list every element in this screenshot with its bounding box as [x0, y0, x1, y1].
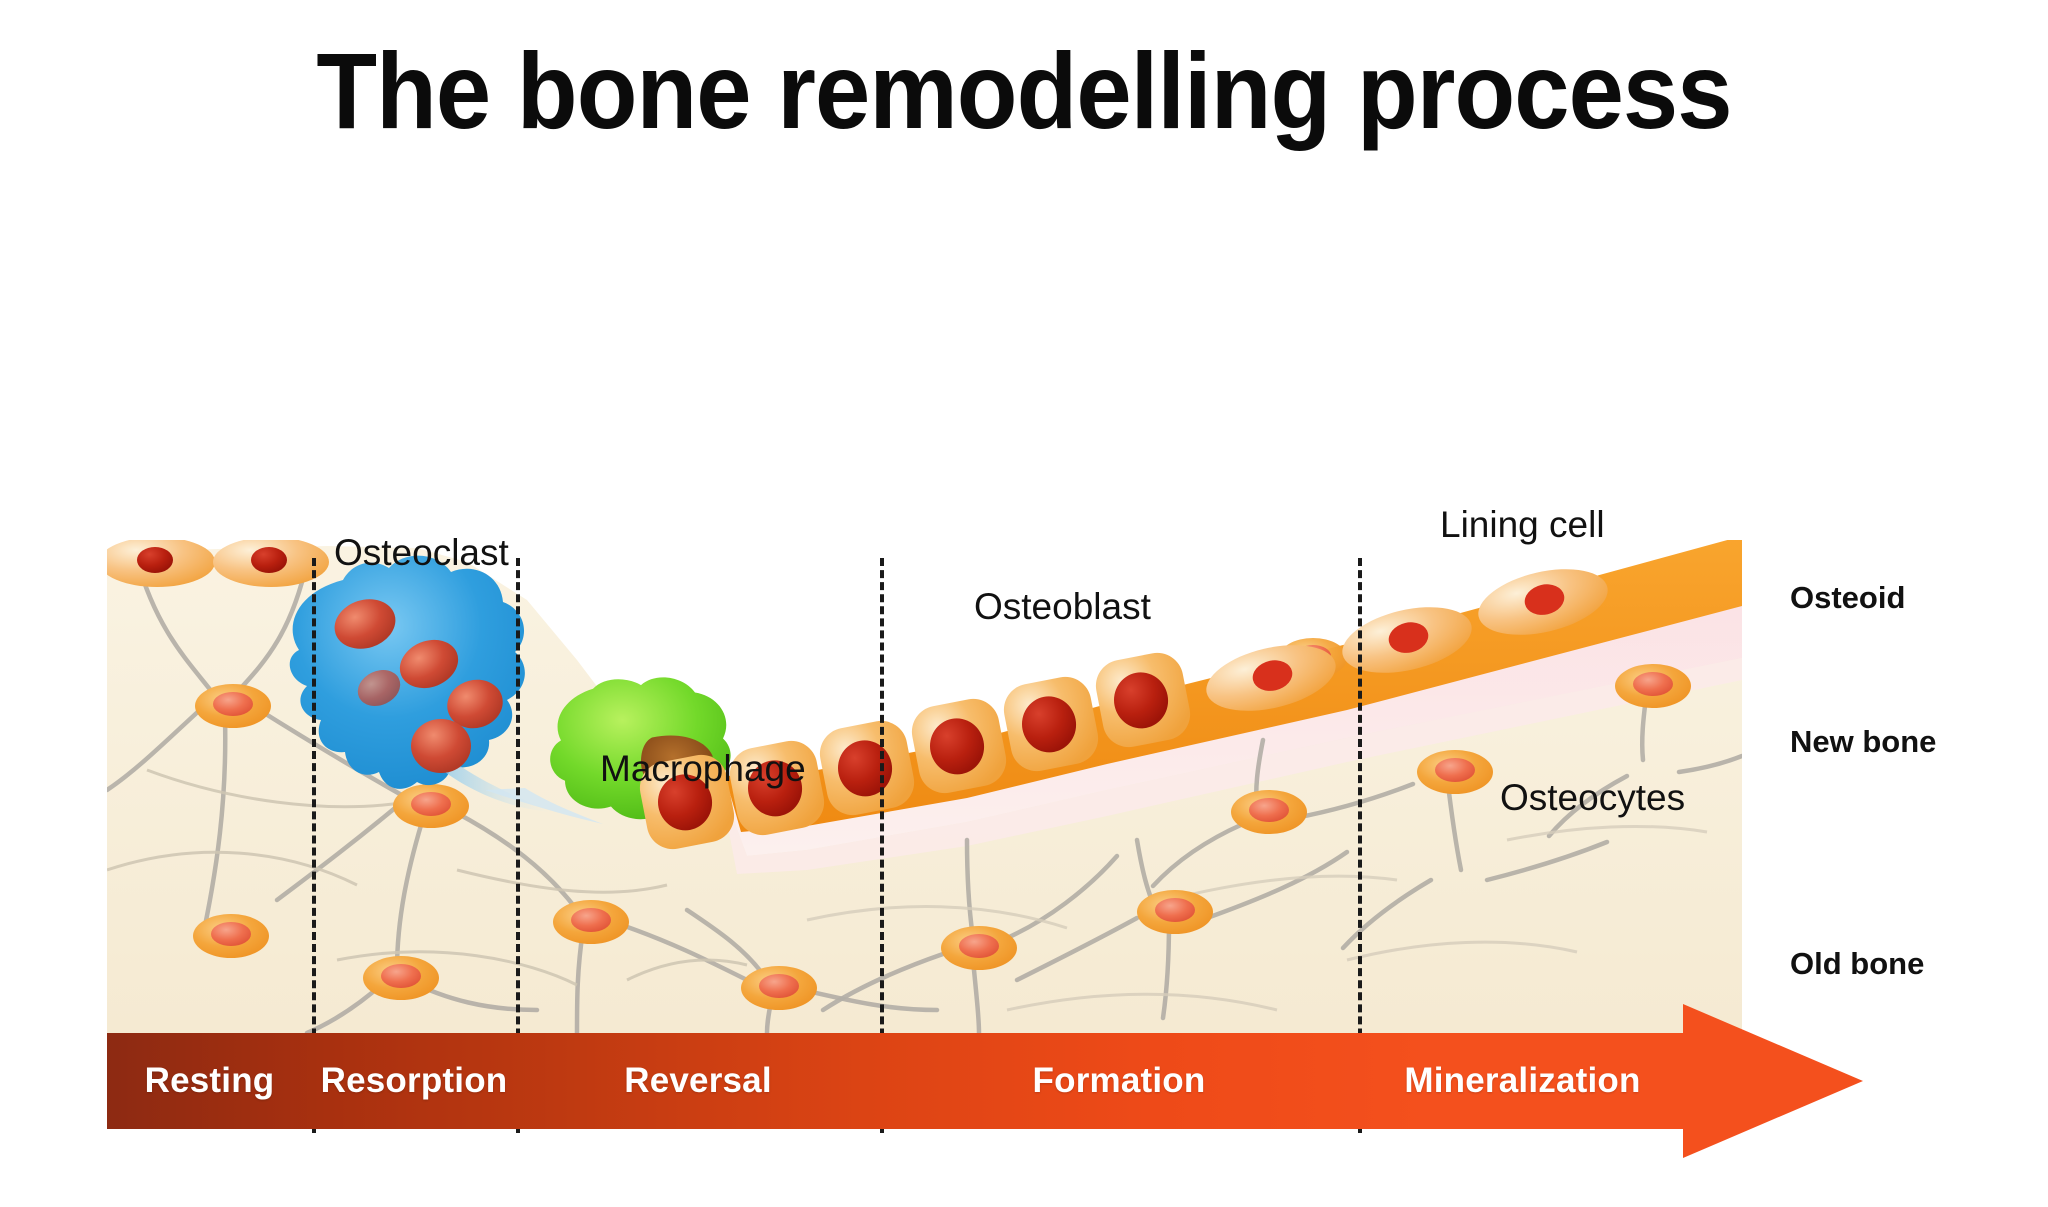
stage-label-reversal[interactable]: Reversal — [516, 1033, 880, 1129]
label-macrophage: Macrophage — [600, 750, 806, 787]
label-osteoclast: Osteoclast — [334, 534, 509, 571]
osteocyte — [1137, 890, 1213, 934]
timeline-arrow-head — [1683, 1004, 1863, 1158]
stage-label-resting[interactable]: Resting — [107, 1033, 312, 1129]
label-osteocytes: Osteocytes — [1500, 779, 1685, 816]
osteocyte — [1417, 750, 1493, 794]
label-lining-cell: Lining cell — [1440, 506, 1605, 543]
osteocyte — [741, 966, 817, 1010]
page-title: The bone remodelling process — [82, 28, 1966, 153]
stage-label-resorption[interactable]: Resorption — [312, 1033, 516, 1129]
osteocyte — [553, 900, 629, 944]
bone-matrix-graphic — [107, 540, 1742, 1033]
label-old-bone: Old bone — [1790, 948, 1924, 979]
osteocyte — [195, 684, 271, 728]
bone-block — [107, 540, 1742, 1033]
osteocyte — [941, 926, 1017, 970]
osteoclast-nucleus — [411, 719, 471, 773]
stage-label-mineralization[interactable]: Mineralization — [1358, 1033, 1687, 1129]
diagram-canvas: The bone remodelling process — [0, 0, 2048, 1207]
osteocyte — [193, 914, 269, 958]
osteocyte — [1231, 790, 1307, 834]
label-osteoid: Osteoid — [1790, 582, 1905, 613]
label-osteoblast: Osteoblast — [974, 588, 1151, 625]
label-new-bone: New bone — [1790, 726, 1936, 757]
osteocyte — [363, 956, 439, 1000]
stage-label-formation[interactable]: Formation — [880, 1033, 1358, 1129]
osteocyte — [1615, 664, 1691, 708]
stage-timeline-arrow: Resting Resorption Reversal Formation Mi… — [107, 1033, 1862, 1129]
osteocyte — [393, 784, 469, 828]
